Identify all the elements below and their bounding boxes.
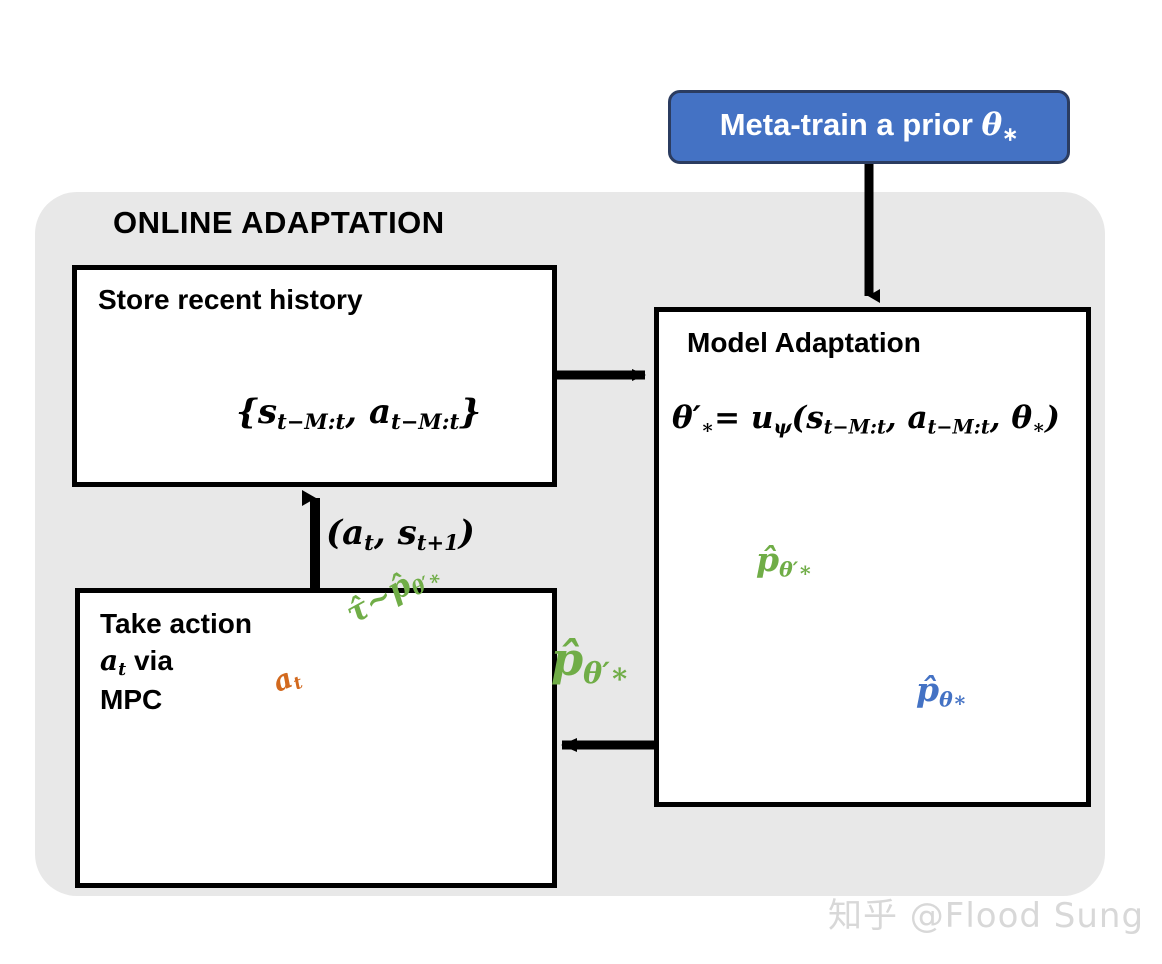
eq-arg-action-subscript: t−M:t (928, 415, 990, 438)
eq-close-paren: ) (1045, 400, 1060, 436)
eq-arg-state: s (806, 400, 823, 436)
action-symbol-at: a (100, 644, 118, 677)
theta-star-subscript: ∗ (1002, 125, 1018, 146)
model-to-action-curve-label: p̂θ′∗ (551, 632, 629, 690)
mid-p-hat-subscript: θ′∗ (583, 656, 629, 690)
p-hat-subscript-green: θ′∗ (779, 558, 812, 582)
set-close-brace: } (459, 392, 481, 432)
take-action-title: Take action at via MPC (100, 606, 252, 719)
watermark: 知乎 @Flood Sung (828, 888, 1144, 937)
blue-prior-model-label: p̂θ∗ (916, 670, 967, 712)
set-open-brace: { (236, 392, 258, 432)
eq-lhs-theta-prime: θ′ (672, 400, 701, 436)
p-hat-symbol-green: p̂ (756, 540, 779, 579)
eq-arg-action: a (907, 400, 927, 436)
model-adaptation-box[interactable] (654, 307, 1091, 807)
label-action-symbol: a (342, 513, 364, 553)
green-adapted-model-label: p̂θ′∗ (756, 540, 812, 582)
eq-lhs-star-subscript: ∗ (701, 415, 714, 438)
label-open-paren: ( (326, 513, 342, 553)
eq-update-fn-subscript: ψ (773, 415, 791, 438)
meta-train-prior-label: Meta-train a prior θ∗ (720, 109, 1019, 145)
store-recent-history-title: Store recent history (98, 284, 363, 316)
store-history-set-formula: {st−M:t, at−M:t} (236, 392, 481, 434)
eq-equals: = (714, 400, 751, 436)
action-to-store-arrow-label: (at, st+1) (326, 513, 475, 555)
action-symbol: a (369, 392, 391, 432)
p-hat-subscript-blue: θ∗ (939, 688, 967, 712)
take-action-via-text: via (126, 645, 173, 676)
label-state-symbol: s (398, 513, 417, 553)
label-state-subscript: t+1 (417, 530, 459, 555)
action-subscript: t−M:t (391, 409, 459, 434)
p-hat-symbol-blue: p̂ (916, 670, 939, 709)
take-action-line3: MPC (100, 682, 252, 719)
meta-train-prior-box[interactable]: Meta-train a prior θ∗ (668, 90, 1070, 164)
take-action-line2: at via (100, 643, 252, 682)
action-symbol-at-subscript: t (118, 660, 126, 680)
state-subscript: t−M:t (277, 409, 345, 434)
label-separator: , (374, 513, 398, 553)
meta-train-text: Meta-train a prior (720, 107, 982, 142)
eq-update-fn: u (751, 400, 774, 436)
eq-separator-2: , (990, 400, 1012, 436)
mid-p-hat-symbol: p̂ (551, 632, 583, 686)
theta-symbol: θ (982, 107, 1003, 143)
label-close-paren: ) (459, 513, 475, 553)
model-adaptation-equation: θ′∗= uψ(st−M:t, at−M:t, θ∗) (672, 400, 1060, 438)
eq-arg-state-subscript: t−M:t (824, 415, 886, 438)
take-action-line1: Take action (100, 606, 252, 643)
model-adaptation-title: Model Adaptation (687, 327, 921, 359)
eq-separator-1: , (886, 400, 908, 436)
label-action-subscript: t (364, 530, 374, 555)
eq-arg-theta: θ (1011, 400, 1032, 436)
state-symbol: s (258, 392, 277, 432)
eq-open-paren: ( (792, 400, 807, 436)
eq-arg-theta-subscript: ∗ (1032, 415, 1045, 438)
formula-separator-1: , (345, 392, 369, 432)
